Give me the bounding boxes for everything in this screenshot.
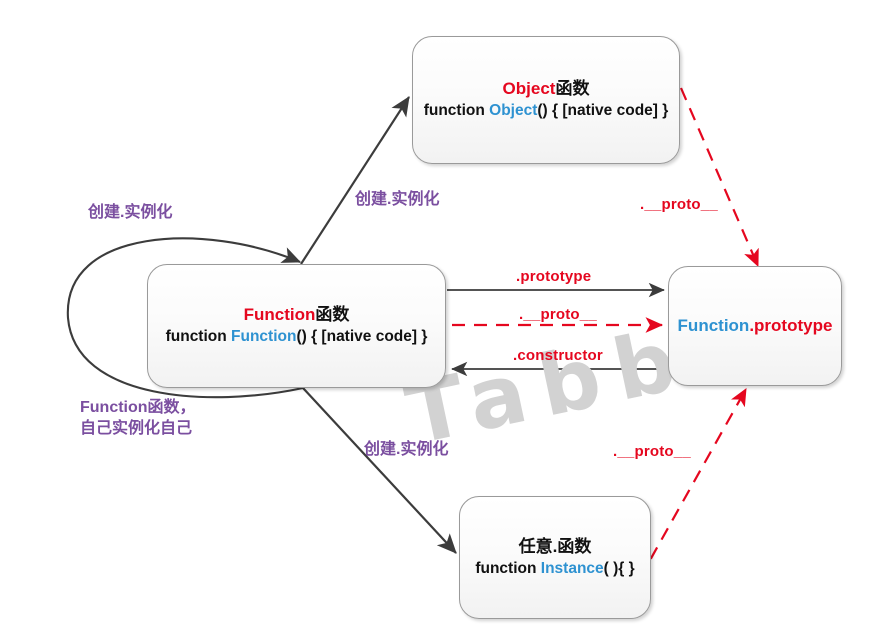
label-self-instantiate: Function函数， 自己实例化自己 [80,398,196,440]
node-instance-title: 任意.函数 [519,536,592,559]
label-create-instance: 创建.实例化 [364,440,448,461]
label-create-self: 创建.实例化 [88,203,172,224]
node-function-prototype[interactable]: Function.prototype [668,266,842,386]
label-constructor: .constructor [513,346,603,366]
node-function-code: function Function() { [native code] } [166,327,428,348]
label-create-object: 创建.实例化 [355,190,439,211]
node-function[interactable]: Function函数 function Function() { [native… [147,264,446,388]
diagram-canvas: Tabb Object函数 function Object() { [0,0,882,641]
edge-proto-top [681,88,758,266]
node-function-title: Function函数 [244,304,350,327]
edge-proto-bottom [640,389,746,578]
label-self-instantiate-line2: 自己实例化自己 [80,419,196,440]
node-object-title: Object函数 [503,78,590,101]
node-object-code: function Object() { [native code] } [424,101,669,122]
node-instance[interactable]: 任意.函数 function Instance( ){ } [459,496,651,619]
node-instance-code: function Instance( ){ } [475,559,634,580]
label-proto-bottom: .__proto__ [613,442,691,462]
edge-function-to-object [301,97,409,264]
label-prototype: .prototype [516,267,591,287]
node-function-prototype-title: Function.prototype [678,315,833,338]
label-self-instantiate-line1: Function函数， [80,398,196,419]
node-object[interactable]: Object函数 function Object() { [native cod… [412,36,680,164]
label-proto-top: .__proto__ [640,195,718,215]
label-proto-middle: .__proto__ [519,305,597,325]
